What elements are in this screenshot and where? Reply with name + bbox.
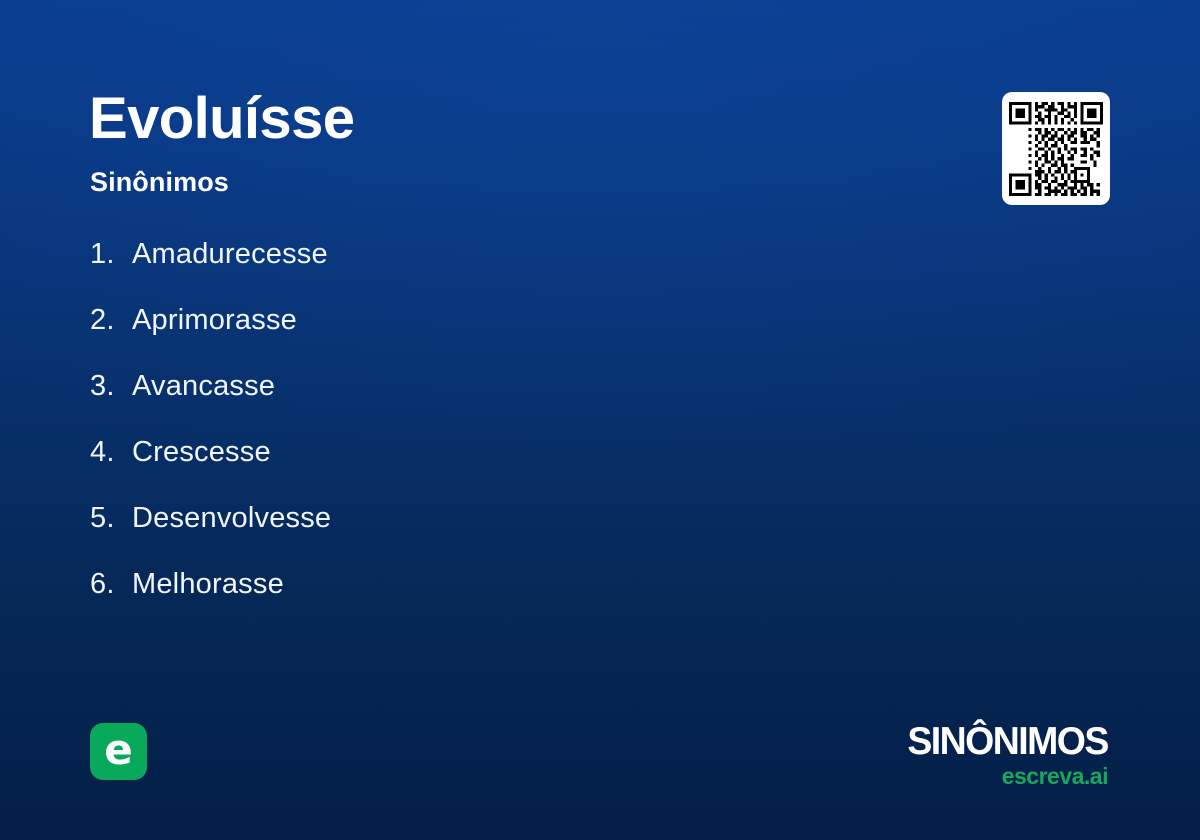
list-item: 2. Aprimorasse: [90, 304, 830, 370]
list-item: 6. Melhorasse: [90, 568, 830, 634]
synonym-list: 1. Amadurecesse 2. Aprimorasse 3. Avanca…: [90, 238, 830, 634]
list-item: 4. Crescesse: [90, 436, 830, 502]
escreva-e-badge-icon[interactable]: e: [90, 723, 147, 780]
list-item-word: Aprimorasse: [132, 304, 297, 337]
list-item: 1. Amadurecesse: [90, 238, 830, 304]
list-item-word: Avancasse: [132, 370, 275, 403]
wordmark-subtitle: escreva.ai: [899, 765, 1108, 788]
list-item-index: 6.: [90, 568, 132, 601]
list-item: 5. Desenvolvesse: [90, 502, 830, 568]
list-item-word: Melhorasse: [132, 568, 284, 601]
badge-letter: e: [104, 729, 133, 771]
list-item: 3. Avancasse: [90, 370, 830, 436]
list-item-index: 4.: [90, 436, 132, 469]
list-item-index: 1.: [90, 238, 132, 271]
qr-code-icon: [1009, 102, 1103, 196]
list-item-index: 2.: [90, 304, 132, 337]
qr-code-card[interactable]: [1002, 92, 1110, 205]
list-item-word: Crescesse: [132, 436, 271, 469]
page-title: Evoluísse: [89, 88, 354, 149]
list-item-word: Amadurecesse: [132, 238, 328, 271]
list-item-index: 3.: [90, 370, 132, 403]
brand-wordmark: SINÔNIMOS escreva.ai: [899, 722, 1108, 788]
list-item-index: 5.: [90, 502, 132, 535]
synonym-card: Evoluísse Sinônimos 1. Amadurecesse 2. A…: [0, 0, 1200, 840]
wordmark-title: SINÔNIMOS: [908, 722, 1108, 761]
page-subtitle: Sinônimos: [90, 167, 229, 198]
list-item-word: Desenvolvesse: [132, 502, 331, 535]
